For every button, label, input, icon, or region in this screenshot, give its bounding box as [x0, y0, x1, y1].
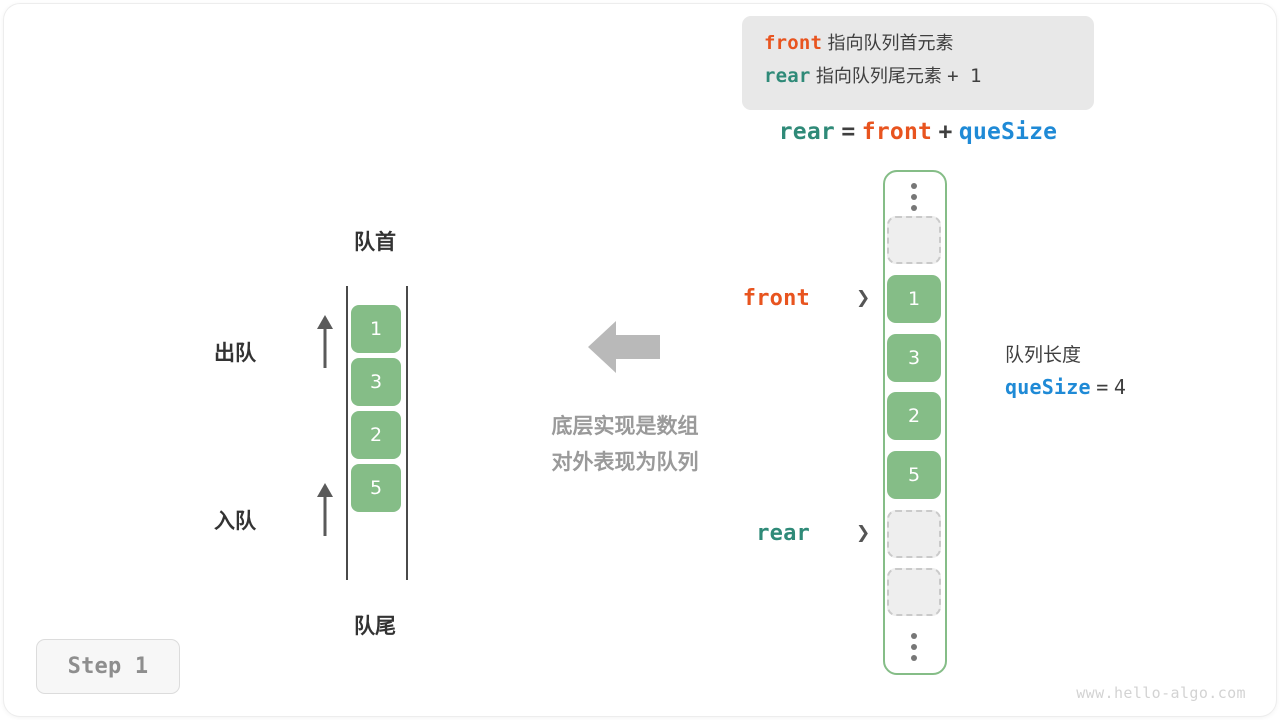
quesize-caption: 队列长度	[1005, 340, 1126, 370]
queue-cell-0: 1	[351, 305, 401, 353]
legend-text-rear: 指向队列尾元素	[816, 66, 942, 87]
pointer-label-front: front	[700, 286, 810, 311]
step-badge: Step 1	[36, 639, 180, 694]
array-cell-filled: 2	[887, 392, 941, 440]
formula-operand-front: front	[862, 119, 932, 145]
pointer-arrowhead-front-icon: ❯	[856, 288, 870, 308]
array-cell-empty	[887, 216, 941, 264]
array-slot-2: 1	[883, 275, 945, 323]
formula-rear-equals: rear = front + queSize	[742, 118, 1094, 145]
array-cell-filled: 5	[887, 451, 941, 499]
quesize-name: queSize	[1005, 375, 1091, 399]
enqueue-arrow-up-icon	[312, 482, 338, 538]
legend-term-front: front	[764, 32, 822, 54]
queue-rail-right	[406, 286, 408, 580]
formula-equals: =	[841, 119, 855, 145]
ellipsis-top-icon	[911, 176, 917, 218]
center-caption-line1: 底层实现是数组	[500, 408, 750, 444]
watermark: www.hello-algo.com	[1076, 684, 1246, 702]
queue-rail-left	[346, 286, 348, 580]
formula-lhs: rear	[779, 119, 835, 145]
quesize-expression: queSize = 4	[1005, 370, 1126, 405]
array-slot-7	[883, 568, 945, 616]
array-slot-1	[883, 216, 945, 264]
array-slot-4: 2	[883, 392, 945, 440]
pointer-arrowhead-rear-icon: ❯	[856, 523, 870, 543]
dequeue-label: 出队	[176, 337, 256, 367]
queue-head-label: 队首	[300, 226, 450, 256]
center-caption-line2: 对外表现为队列	[500, 444, 750, 480]
array-slot-8-ellipsis	[883, 626, 945, 668]
array-cell-empty	[887, 568, 941, 616]
diagram-canvas: front 指向队列首元素 rear 指向队列尾元素 + 1 rear = fr…	[0, 0, 1280, 720]
array-slot-3: 3	[883, 334, 945, 382]
pointer-label-rear: rear	[700, 521, 810, 546]
legend-box: front 指向队列首元素 rear 指向队列尾元素 + 1	[742, 16, 1094, 110]
array-cell-empty	[887, 510, 941, 558]
center-caption: 底层实现是数组 对外表现为队列	[500, 408, 750, 480]
legend-line-front: front 指向队列首元素	[764, 27, 1074, 60]
quesize-annotation: 队列长度 queSize = 4	[1005, 340, 1126, 405]
queue-cell-3: 5	[351, 464, 401, 512]
array-cell-filled: 1	[887, 275, 941, 323]
queue-tail-label: 队尾	[300, 610, 450, 640]
legend-text-front: 指向队列首元素	[827, 33, 953, 54]
legend-term-rear: rear	[764, 65, 811, 87]
array-slot-0-ellipsis	[883, 176, 945, 218]
legend-line-rear: rear 指向队列尾元素 + 1	[764, 60, 1074, 93]
quesize-equals: =	[1096, 375, 1108, 399]
ellipsis-bottom-icon	[911, 626, 917, 668]
enqueue-label: 入队	[176, 505, 256, 535]
quesize-value: 4	[1114, 375, 1126, 399]
formula-operand-quesize: queSize	[959, 119, 1057, 145]
queue-cell-2: 2	[351, 411, 401, 459]
array-slot-5: 5	[883, 451, 945, 499]
queue-cell-1: 3	[351, 358, 401, 406]
formula-plus: +	[938, 119, 952, 145]
array-slot-6	[883, 510, 945, 558]
legend-suffix-rear: + 1	[947, 65, 981, 87]
dequeue-arrow-up-icon	[312, 314, 338, 370]
step-badge-label: Step 1	[68, 654, 149, 679]
array-cell-filled: 3	[887, 334, 941, 382]
left-arrow-icon	[588, 318, 660, 376]
